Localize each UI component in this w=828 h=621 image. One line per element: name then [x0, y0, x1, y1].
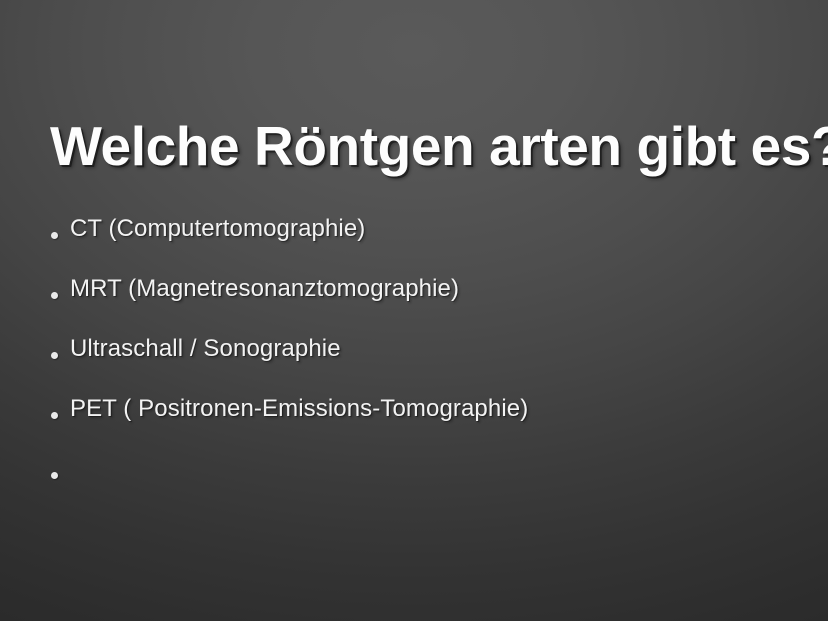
slide-bullet-list: CT (Computertomographie) MRT (Magnetreso… [44, 212, 804, 512]
bullet-text-empty [70, 452, 804, 486]
list-item: MRT (Magnetresonanztomographie) [44, 272, 804, 332]
bullet-dot-icon [51, 232, 58, 239]
list-item: CT (Computertomographie) [44, 212, 804, 272]
list-item: Ultraschall / Sonographie [44, 332, 804, 392]
bullet-dot-icon [51, 472, 58, 479]
bullet-text: Ultraschall / Sonographie [70, 332, 804, 366]
bullet-text: MRT (Magnetresonanztomographie) [70, 272, 804, 306]
bullet-text: CT (Computertomographie) [70, 212, 804, 246]
bullet-dot-icon [51, 412, 58, 419]
list-item: PET ( Positronen-Emissions-Tomographie) [44, 392, 804, 452]
presentation-slide: Welche Röntgen arten gibt es? CT (Comput… [0, 0, 828, 621]
bullet-text: PET ( Positronen-Emissions-Tomographie) [70, 392, 804, 426]
list-item [44, 452, 804, 512]
bullet-dot-icon [51, 352, 58, 359]
bullet-dot-icon [51, 292, 58, 299]
slide-title: Welche Röntgen arten gibt es? [50, 118, 794, 175]
